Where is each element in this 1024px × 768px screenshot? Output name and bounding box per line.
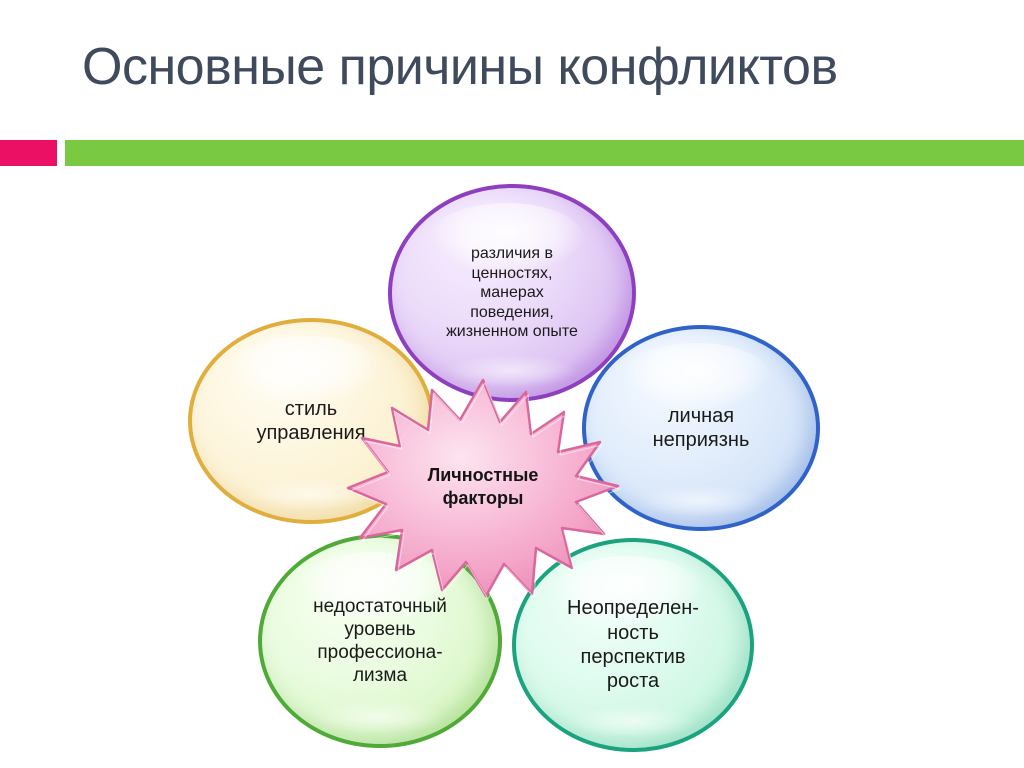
bubble-diagram: Личностные факторы различия в ценностях,… bbox=[0, 166, 1024, 768]
center-starburst: Личностные факторы bbox=[348, 378, 618, 596]
bubble-values-label: различия в ценностях, манерах поведения,… bbox=[434, 244, 590, 342]
bubble-personal-dislike-label: личная неприязнь bbox=[641, 404, 762, 453]
bubble-professionalism-label: недостаточный уровень профессиона- лизма bbox=[301, 595, 459, 688]
slide-canvas: Основные причины конфликтов Л bbox=[0, 0, 1024, 768]
divider-accent-block bbox=[0, 140, 57, 166]
bubble-values[interactable]: различия в ценностях, манерах поведения,… bbox=[388, 184, 636, 402]
bubble-growth-prospects-label: Неопределен- ность перспектив роста bbox=[555, 596, 711, 694]
page-title: Основные причины конфликтов bbox=[82, 38, 838, 98]
divider bbox=[0, 140, 1024, 166]
title-area: Основные причины конфликтов bbox=[0, 38, 1024, 128]
divider-green-bar bbox=[65, 140, 1024, 166]
